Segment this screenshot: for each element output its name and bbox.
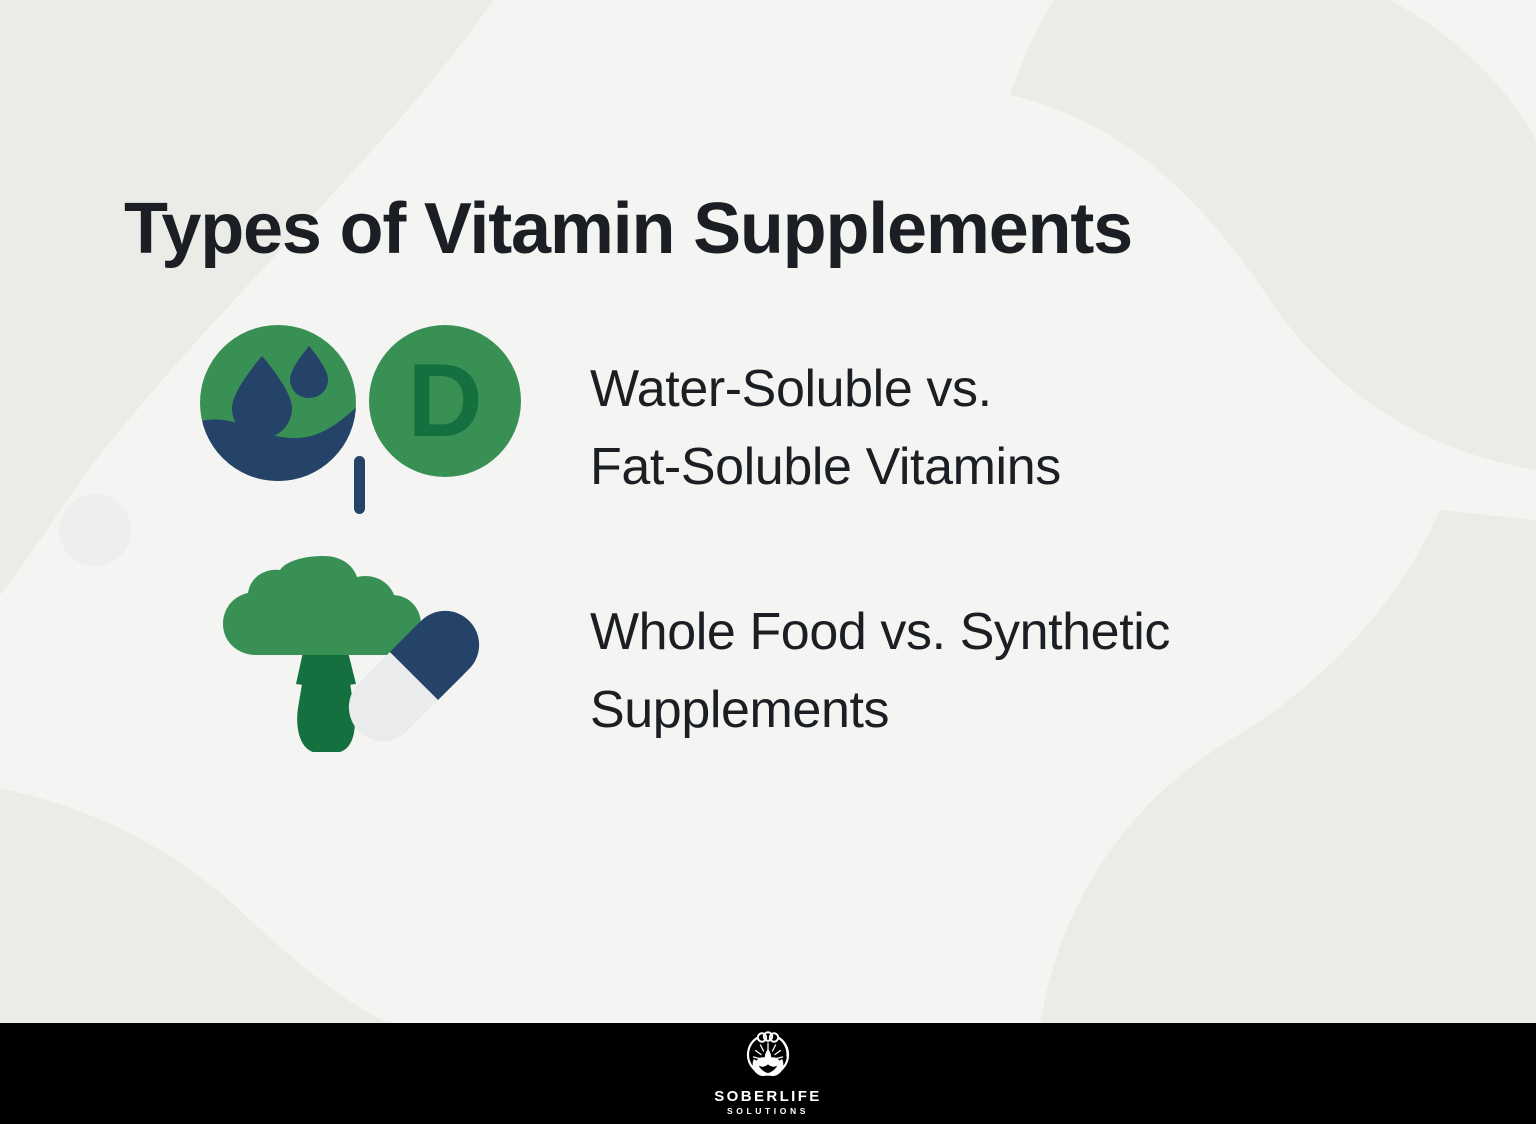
broccoli-florets	[223, 556, 421, 655]
footer-brand-name: SOBERLIFE	[714, 1088, 821, 1105]
row-label-whole-vs-synthetic: Whole Food vs. Synthetic Supplements	[590, 593, 1170, 749]
content-row-water-vs-fat: D Water-Soluble vs. Fat-Soluble Vitamins	[200, 318, 1061, 533]
footer-tagline: SOLUTIONS	[727, 1105, 809, 1117]
water-soluble-vs-fat-soluble-icon: D	[200, 318, 550, 533]
emblem-ring-arc-right	[779, 1038, 788, 1056]
footer-bar: SOBERLIFE SOLUTIONS	[0, 1023, 1536, 1124]
vitamin-d-circle-icon: D	[369, 325, 521, 477]
row-label-water-vs-fat: Water-Soluble vs. Fat-Soluble Vitamins	[590, 350, 1061, 506]
whole-food-vs-synthetic-icon	[200, 548, 550, 763]
divider-bar-icon	[354, 456, 365, 514]
water-drop-circle-icon	[200, 325, 365, 493]
blob-bottom-left	[0, 780, 390, 1024]
slide-canvas: Types of Vitamin Supplements	[0, 0, 1536, 1124]
blob-small-circle	[59, 494, 131, 566]
soberlife-lotus-emblem	[741, 1031, 795, 1086]
content-row-whole-vs-synthetic: Whole Food vs. Synthetic Supplements	[200, 548, 1170, 763]
vitamin-d-letter: D	[407, 343, 482, 459]
page-title: Types of Vitamin Supplements	[124, 191, 1132, 269]
